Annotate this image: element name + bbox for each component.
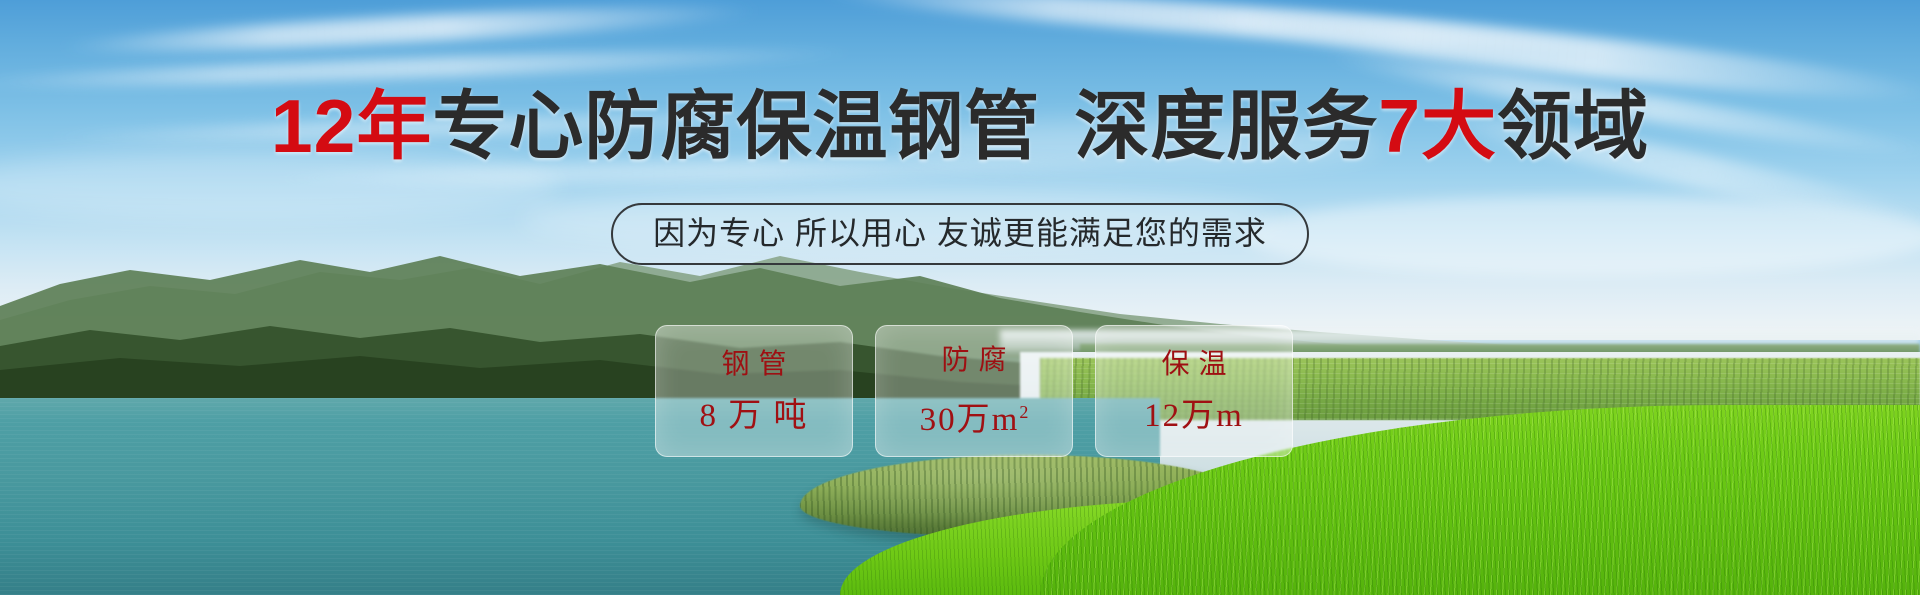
headline-service: 深度服务 <box>1074 84 1378 168</box>
banner-content: 12年专心防腐保温钢管深度服务7大领域 因为专心 所以用心 友诚更能满足您的需求… <box>0 0 1920 595</box>
stat-card[interactable]: 保温 12万m <box>1095 325 1293 457</box>
stat-card-list: 钢管 8 万 吨 防腐 30万m2 保温 12万m <box>655 325 1293 457</box>
stat-card-value-text: 30万m <box>920 402 1020 438</box>
headline-years: 12年 <box>271 84 432 168</box>
stat-card[interactable]: 防腐 30万m2 <box>875 325 1073 457</box>
headline-main: 专心防腐保温钢管 <box>432 84 1040 168</box>
stat-card-value: 8 万 吨 <box>700 398 809 434</box>
promo-banner: 12年专心防腐保温钢管深度服务7大领域 因为专心 所以用心 友诚更能满足您的需求… <box>0 0 1920 595</box>
subtitle-pill: 因为专心 所以用心 友诚更能满足您的需求 <box>611 203 1309 265</box>
stat-card-title: 保温 <box>1152 348 1235 382</box>
stat-card-value-text: 12万m <box>1144 398 1244 434</box>
stat-card-title: 防腐 <box>932 344 1015 378</box>
stat-card-title: 钢管 <box>712 348 795 382</box>
subtitle-wrapper: 因为专心 所以用心 友诚更能满足您的需求 <box>0 203 1920 265</box>
headline-fields: 领域 <box>1497 84 1649 168</box>
stat-card-value: 12万m <box>1144 398 1244 434</box>
stat-card[interactable]: 钢管 8 万 吨 <box>655 325 853 457</box>
stat-card-value: 30万m2 <box>920 394 1029 438</box>
headline-fields-count: 7大 <box>1378 84 1497 168</box>
stat-card-value-superscript: 2 <box>1019 402 1028 422</box>
headline: 12年专心防腐保温钢管深度服务7大领域 <box>0 86 1920 166</box>
stat-card-value-text: 8 万 吨 <box>700 398 809 434</box>
